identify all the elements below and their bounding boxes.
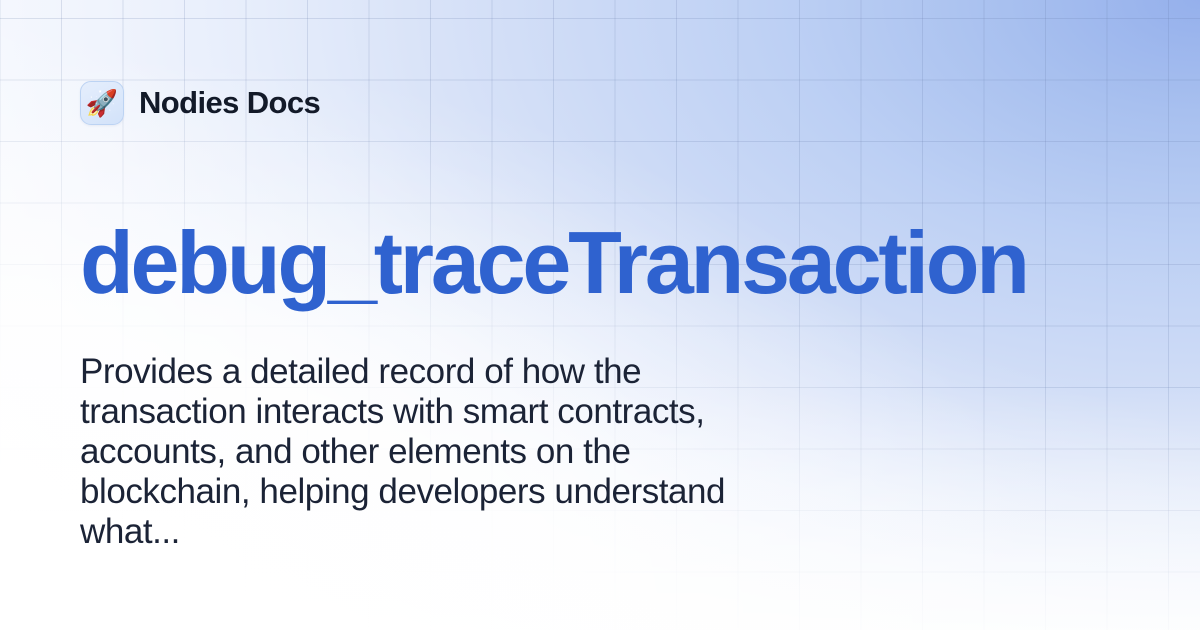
og-preview-card: 🚀 Nodies Docs debug_traceTransaction Pro…: [0, 0, 1200, 630]
rocket-icon-tile: 🚀: [80, 81, 124, 125]
page-description: Provides a detailed record of how the tr…: [80, 352, 840, 552]
page-title: debug_traceTransaction: [80, 218, 1200, 308]
rocket-icon: 🚀: [86, 90, 118, 116]
brand-lockup: 🚀 Nodies Docs: [80, 81, 320, 125]
brand-name: Nodies Docs: [139, 85, 320, 121]
card-content: 🚀 Nodies Docs debug_traceTransaction Pro…: [0, 0, 1200, 630]
